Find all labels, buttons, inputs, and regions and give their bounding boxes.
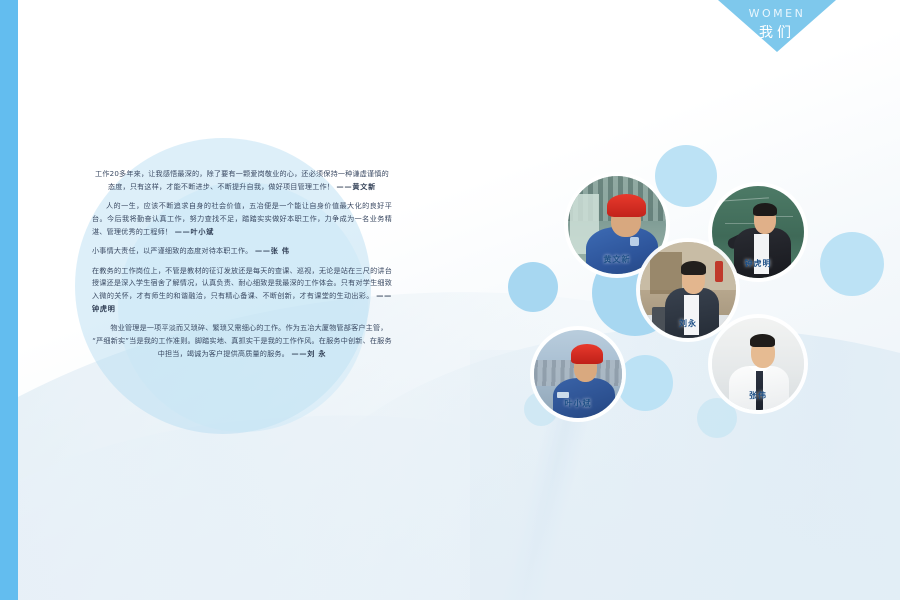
decorative-bubble-5 [617,355,673,411]
brochure-page: WOMEN 我们 工作20多年来，让我感悟最深的，除了要有一颗爱岗敬业的心，还必… [0,0,900,600]
testimonial-text-2: 人的一生，应该不断追求自身的社会价值，五冶便是一个能让自身价值最大化的良好平台。… [92,201,392,235]
testimonial-signature-2: ——叶小斌 [175,227,214,236]
left-accent-stripe [0,0,18,600]
photo-red-helmet [571,344,603,364]
photo-shirt [684,295,698,335]
photo-hair [681,261,706,274]
photo-blackboard-line-1 [721,197,769,201]
photo-uniform-badge [630,237,639,246]
photo-red-helmet [607,194,646,218]
photo-hair [750,334,776,348]
testimonial-signature-1: ——黄文新 [337,182,376,191]
decorative-bubble-2 [820,232,884,296]
testimonial-copy-block: 工作20多年来，让我感悟最深的，除了要有一颗爱岗敬业的心，还必须保持一种谦虚谨慎… [92,168,392,367]
photo-zhang-wei[interactable]: 张伟 [712,318,804,410]
photo-ye-xiaobin[interactable]: 叶小斌 [534,330,622,418]
photo-extinguisher [715,261,723,282]
testimonial-paragraph-3: 小事情大责任，以严谨细致的态度对待本职工作。 ——张 伟 [92,245,392,258]
section-banner: WOMEN 我们 [718,0,836,52]
testimonial-text-4: 在教务的工作岗位上，不管是教材的征订发放还是每天的查课、巡视，无论是站在三尺的讲… [92,266,392,300]
testimonial-paragraph-4: 在教务的工作岗位上，不管是教材的征订发放还是每天的查课、巡视，无论是站在三尺的讲… [92,265,392,316]
testimonial-paragraph-2: 人的一生，应该不断追求自身的社会价值，五冶便是一个能让自身价值最大化的良好平台。… [92,200,392,238]
banner-chinese-label: 我们 [718,22,836,42]
photo-hair [753,203,777,217]
testimonial-paragraph-5: 物业管理是一项平淡而又琐碎、繁琐又需细心的工作。作为五冶大厦物管部客户主管，“严… [92,322,392,360]
testimonial-text-3: 小事情大责任，以严谨细致的态度对待本职工作。 [92,246,252,255]
photo-name-label-4: 叶小斌 [534,398,622,409]
photo-cabinet [650,252,683,294]
photo-name-label-5: 张伟 [712,390,804,401]
testimonial-text-5: 物业管理是一项平淡而又琐碎、繁琐又需细心的工作。作为五冶大厦物管部客户主管，“严… [92,323,392,357]
decorative-bubble-3 [508,262,558,312]
banner-english-label: WOMEN [718,7,836,20]
testimonial-signature-5: ——刘 永 [291,349,326,358]
testimonial-signature-3: ——张 伟 [255,246,290,255]
photo-uniform-tag [557,392,569,398]
testimonial-paragraph-1: 工作20多年来，让我感悟最深的，除了要有一颗爱岗敬业的心，还必须保持一种谦虚谨慎… [92,168,392,193]
